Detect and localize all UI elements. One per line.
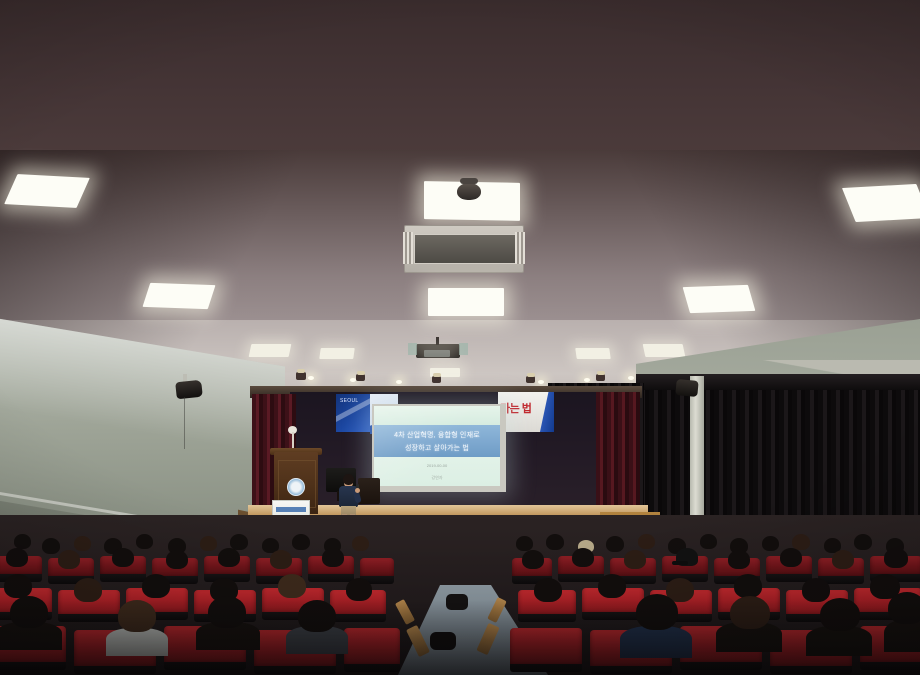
banner-left-tag: SEOUL [340, 398, 358, 404]
audience-head [208, 596, 246, 628]
audience-head [780, 548, 802, 567]
audience-head [346, 578, 372, 601]
slide-presenter-text: 강연자 [374, 475, 500, 481]
hvac-vent [414, 234, 516, 264]
audience-head [112, 548, 134, 567]
audience-head [218, 548, 240, 567]
auditorium-seat [360, 558, 394, 580]
audience-head [636, 594, 678, 630]
slide-date-text: 2019-00-00 [374, 463, 500, 468]
presenter-head [343, 474, 354, 485]
hvac-grille-left [403, 232, 413, 264]
event-banner-left: SEOUL [336, 394, 370, 432]
ceiling-light-panel [575, 348, 611, 359]
projection-screen-frame: 4차 산업혁명, 융합형 인재로 성장하고 살아가는 법 2019-00-00 … [372, 404, 506, 492]
audience-head [762, 536, 779, 551]
audience-shoulders [884, 620, 920, 652]
spotlight-icon [596, 374, 605, 381]
hvac-dome-sensor [457, 183, 481, 200]
audience-head [74, 578, 102, 602]
ceiling-light-panel [249, 344, 292, 357]
audience-head [4, 574, 32, 598]
audience-head [270, 550, 292, 569]
spotlight-icon [526, 376, 535, 383]
audience-head [292, 534, 310, 550]
audience-head [606, 536, 624, 552]
audience-head [42, 538, 60, 554]
audience-head [58, 550, 80, 569]
auditorium-seat [344, 628, 400, 668]
wall-speaker-icon [675, 379, 698, 397]
slide-title-line-1: 4차 산업혁명, 융합형 인재로 [374, 430, 500, 440]
floor-bag [430, 632, 456, 650]
audience-head [598, 574, 626, 598]
ceiling-light-panel [428, 288, 504, 316]
slide-bottom-band [374, 457, 500, 486]
audience-head [352, 536, 369, 551]
podium-emblem [287, 478, 305, 496]
audience-head [888, 592, 920, 624]
event-banner-right: 가는 법 [498, 392, 554, 432]
audience-head [546, 534, 564, 550]
audience-head [700, 534, 717, 549]
air-conditioner-icon [404, 225, 524, 273]
slide-top-band [374, 406, 500, 425]
audience-head [734, 574, 762, 598]
audience-head [166, 550, 188, 569]
projector-wing-left [408, 343, 417, 355]
downlight-icon [538, 380, 544, 384]
banner-right-edge [540, 392, 554, 432]
audience-head [322, 548, 344, 567]
audience-head [136, 534, 153, 549]
ceiling-light-panel [142, 283, 215, 309]
ceiling-light-panel [683, 285, 756, 313]
spotlight-icon [432, 376, 441, 383]
projection-screen: 4차 산업혁명, 융합형 인재로 성장하고 살아가는 법 2019-00-00 … [374, 406, 500, 486]
ceiling-light-panel [319, 348, 355, 359]
audience-head [14, 534, 31, 549]
floor-bag [446, 594, 468, 610]
audience-head [728, 550, 750, 569]
speaker-cable-left [184, 397, 185, 449]
audience-head [200, 536, 217, 551]
wall-speaker-icon [175, 380, 203, 400]
right-wall-pillar [690, 376, 704, 526]
sign-board-bar [276, 507, 306, 512]
audience-head [884, 548, 908, 568]
downlight-icon [396, 380, 402, 384]
spotlight-icon [356, 374, 365, 381]
ceiling-light-panel [842, 184, 920, 222]
hvac-grille-right [515, 232, 525, 264]
audience-head [6, 548, 28, 567]
audience-head [516, 536, 533, 551]
audience-head [832, 550, 854, 569]
audience-head [118, 600, 156, 632]
downlight-icon [628, 376, 634, 380]
audience-shoulders [106, 628, 168, 656]
audience-head [572, 548, 594, 567]
audience-head [298, 600, 336, 632]
slide-title-line-2: 성장하고 살아가는 법 [374, 443, 500, 453]
audience-head [534, 578, 562, 602]
ceiling-light-panel [4, 174, 90, 208]
audience-head [638, 534, 655, 549]
audience-head-cap [676, 548, 698, 566]
audience-head [522, 550, 544, 569]
downlight-icon [308, 376, 314, 380]
audience-head [820, 598, 860, 631]
ceiling-light-panel [643, 344, 686, 357]
auditorium-seat [510, 628, 582, 668]
audience-head [142, 574, 170, 598]
projector-mount [436, 337, 439, 345]
projector-wing-right [459, 343, 468, 355]
audience-head [74, 536, 91, 551]
audience-shoulders [620, 626, 692, 658]
auditorium-photo: SEOUL 4차 가는 법 4차 산업혁명, 융합형 인재로 성장하고 살아가는… [0, 0, 920, 675]
projector-lens-glow [424, 350, 450, 357]
audience-head [624, 550, 646, 569]
audience-head [278, 574, 306, 598]
audience-head [802, 578, 830, 602]
downlight-icon [584, 378, 590, 382]
presenter-hand [355, 488, 360, 493]
audience-head [10, 596, 48, 628]
maroon-curtain-right [596, 392, 640, 514]
audience-head [730, 596, 770, 629]
spotlight-icon [296, 372, 306, 380]
audience-head [854, 534, 872, 550]
